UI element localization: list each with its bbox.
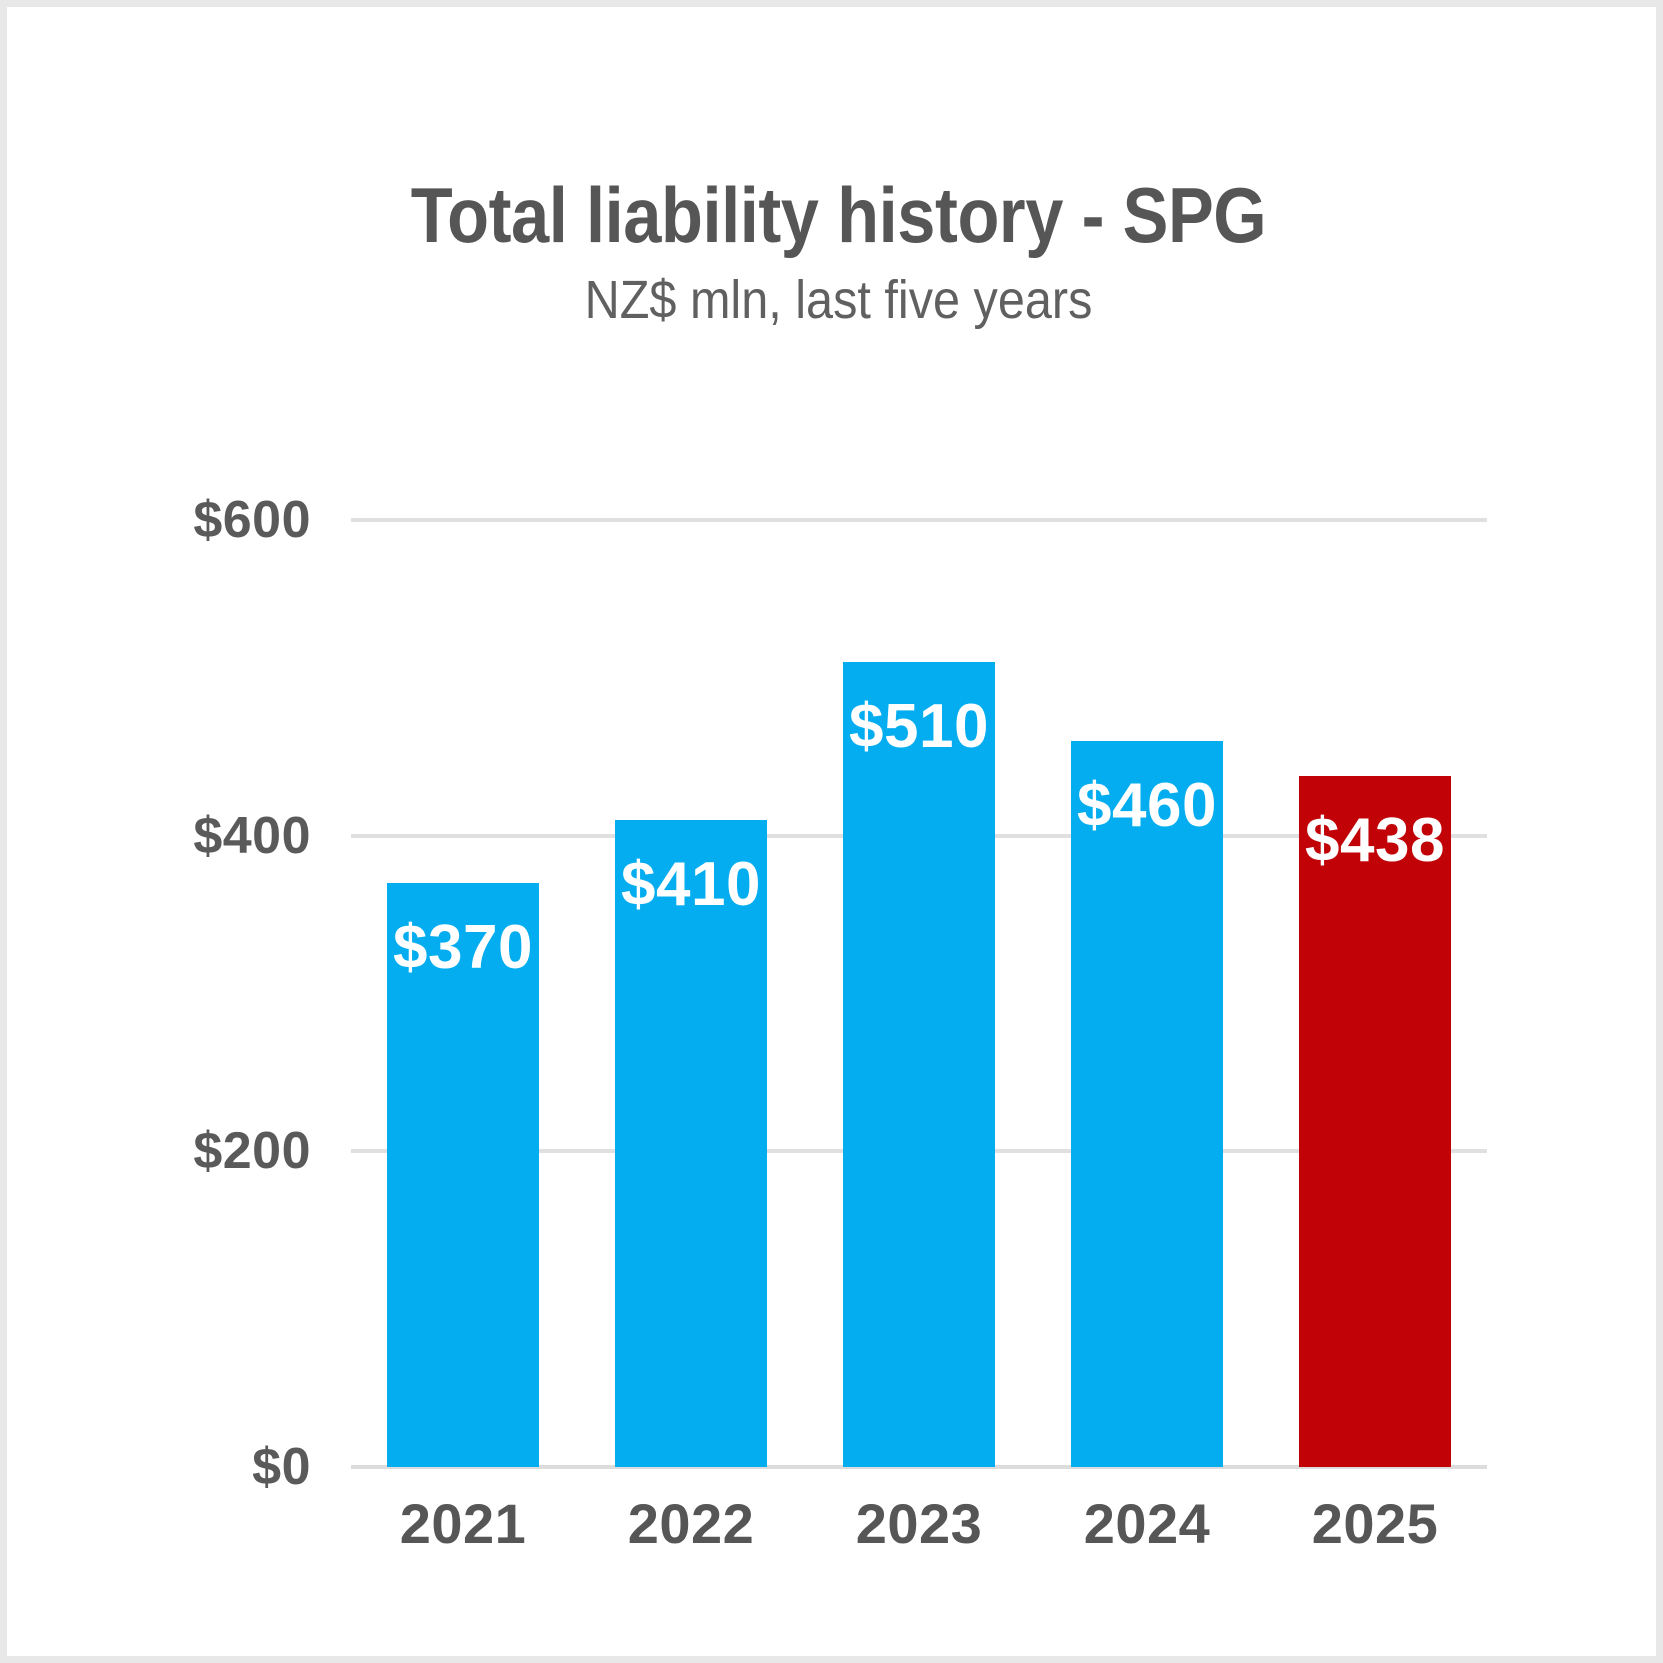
bar-value-label-2025: $438 [1299,810,1451,872]
x-tick-label-2022: 2022 [615,1491,767,1556]
bar-series: $370$410$510$460$438 [351,520,1487,1467]
bar-2021[interactable]: $370 [387,883,539,1467]
x-tick-label-2025: 2025 [1299,1491,1451,1556]
bar-value-label-2024: $460 [1071,775,1223,837]
bar-2025[interactable]: $438 [1299,776,1451,1467]
y-tick-label-200: $200 [193,1121,311,1181]
bar-group-2021[interactable]: $370 [387,520,539,1467]
bar-value-label-2021: $370 [387,917,539,979]
bar-value-label-2023: $510 [843,696,995,758]
bar-group-2022[interactable]: $410 [615,520,767,1467]
bar-value-label-2022: $410 [615,854,767,916]
y-tick-label-600: $600 [193,490,311,550]
bar-group-2025[interactable]: $438 [1299,520,1451,1467]
plot-area: $370$410$510$460$438 [351,520,1487,1467]
bar-2024[interactable]: $460 [1071,741,1223,1467]
bar-2022[interactable]: $410 [615,820,767,1467]
x-tick-label-2021: 2021 [387,1491,539,1556]
bar-2023[interactable]: $510 [843,662,995,1467]
chart-canvas: Total liability history - SPG NZ$ mln, l… [0,0,1663,1663]
chart-title: Total liability history - SPG [107,175,1570,257]
x-tick-label-2024: 2024 [1071,1491,1223,1556]
chart-subtitle: NZ$ mln, last five years [90,271,1587,330]
bar-group-2024[interactable]: $460 [1071,520,1223,1467]
x-tick-label-2023: 2023 [843,1491,995,1556]
bar-group-2023[interactable]: $510 [843,520,995,1467]
chart-header: Total liability history - SPG NZ$ mln, l… [7,175,1663,330]
y-tick-label-400: $400 [193,806,311,866]
y-tick-label-0: $0 [252,1437,311,1497]
